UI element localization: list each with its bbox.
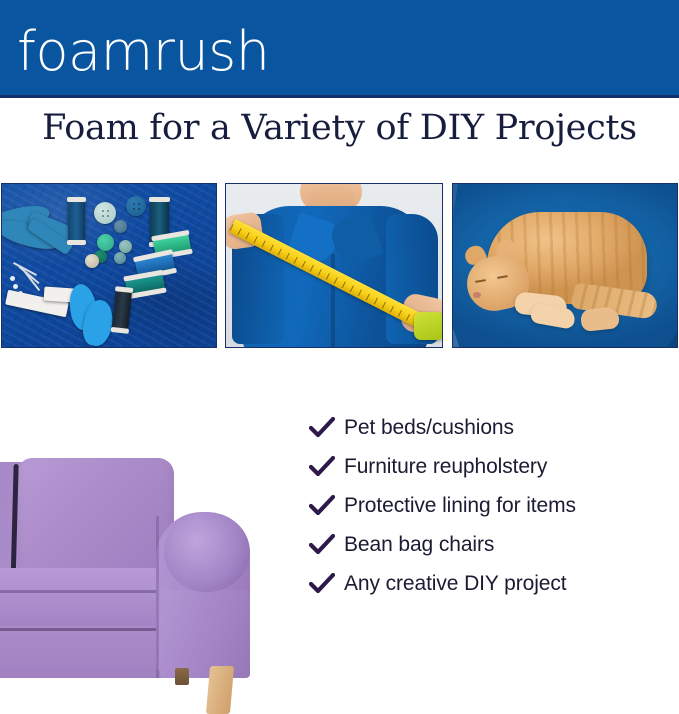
- sofa-arm-panel: [160, 590, 250, 678]
- brand-header: foamrush: [0, 0, 679, 98]
- pin-head-icon: [10, 276, 15, 281]
- button-icon: [85, 254, 99, 268]
- button-icon: [114, 252, 126, 264]
- benefits-list: Pet beds/cushions Furniture reupholstery…: [300, 408, 679, 603]
- sewing-supplies-photo: [1, 183, 217, 348]
- tape-measure-case: [414, 312, 443, 340]
- list-item-label: Protective lining for items: [344, 494, 576, 518]
- list-item-label: Bean bag chairs: [344, 533, 494, 557]
- button-icon: [97, 234, 114, 251]
- sofa-leg-back: [175, 668, 189, 685]
- list-item-label: Pet beds/cushions: [344, 416, 514, 440]
- sofa-leg-front: [206, 666, 234, 714]
- button-icon: [119, 240, 132, 253]
- check-icon: [300, 573, 344, 595]
- list-item: Pet beds/cushions: [300, 408, 679, 447]
- product-infographic: foamrush Foam for a Variety of DIY Proje…: [0, 0, 679, 679]
- sofa-seat-seam: [0, 590, 178, 593]
- check-icon: [300, 417, 344, 439]
- pin-head-icon: [13, 284, 18, 289]
- list-item: Any creative DIY project: [300, 564, 679, 603]
- sofa-base-seam: [0, 628, 176, 631]
- thread-spool-icon: [68, 200, 85, 242]
- button-icon: [94, 202, 116, 224]
- photo-strip: [0, 183, 679, 348]
- check-icon: [300, 534, 344, 556]
- button-icon: [114, 220, 127, 233]
- list-item-label: Any creative DIY project: [344, 572, 566, 596]
- button-icon: [126, 196, 146, 216]
- purple-sofa-illustration: [0, 440, 280, 679]
- list-item-label: Furniture reupholstery: [344, 455, 547, 479]
- list-item: Protective lining for items: [300, 486, 679, 525]
- check-icon: [300, 456, 344, 478]
- cat-on-cushion-photo: [452, 183, 678, 348]
- cat-nose: [473, 292, 481, 298]
- page-title: Foam for a Variety of DIY Projects: [0, 108, 679, 148]
- list-item: Bean bag chairs: [300, 525, 679, 564]
- sofa-rolled-arm: [164, 512, 250, 592]
- tape-measure-photo: [225, 183, 443, 348]
- list-item: Furniture reupholstery: [300, 447, 679, 486]
- brand-logo: foamrush: [17, 22, 270, 82]
- check-icon: [300, 495, 344, 517]
- sofa-arm-crease: [156, 516, 159, 678]
